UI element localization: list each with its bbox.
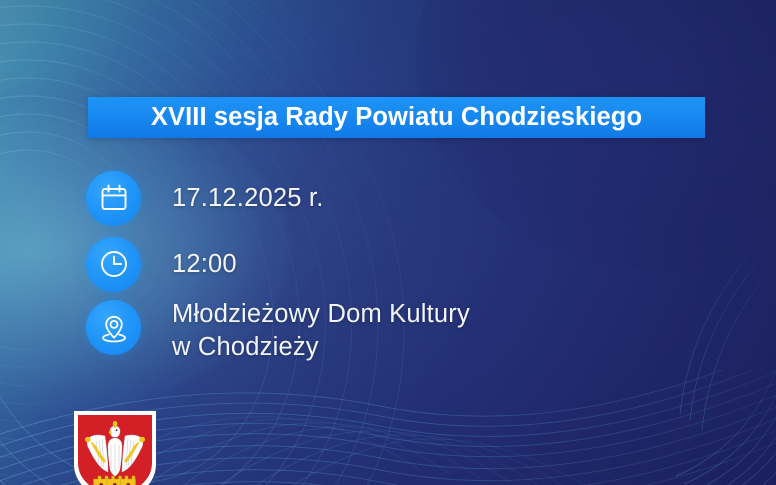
page-title: XVIII sesja Rady Powiatu Chodzieskiego — [151, 105, 642, 131]
detail-row-location: Młodzieżowy Dom Kultury w Chodzieży — [86, 300, 686, 360]
calendar-icon — [86, 171, 141, 226]
map-pin-icon — [86, 300, 141, 355]
session-details-list: 17.12.2025 r. 12:00 — [86, 170, 686, 370]
detail-text-date: 17.12.2025 r. — [172, 182, 323, 215]
clock-icon — [86, 237, 141, 292]
detail-text-time: 12:00 — [172, 248, 237, 281]
session-announcement-poster: XVIII sesja Rady Powiatu Chodzieskiego 1… — [0, 0, 776, 485]
session-title-banner: XVIII sesja Rady Powiatu Chodzieskiego — [88, 97, 705, 138]
detail-row-time: 12:00 — [86, 236, 686, 292]
detail-text-location: Młodzieżowy Dom Kultury w Chodzieży — [172, 298, 470, 363]
coat-of-arms-icon — [74, 411, 156, 485]
detail-row-date: 17.12.2025 r. — [86, 170, 686, 226]
